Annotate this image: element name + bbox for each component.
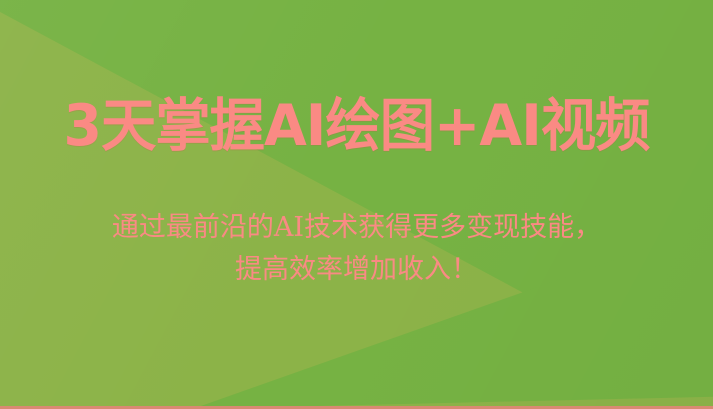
subtitle-line-1: 通过最前沿的AI技术获得更多变现技能， (0, 207, 713, 249)
page-title: 3天掌握AI绘图+AI视频 (11, 98, 703, 155)
poster-content: 3天掌握AI绘图+AI视频 通过最前沿的AI技术获得更多变现技能， 提高效率增加… (0, 0, 713, 409)
subtitle-line-2: 提高效率增加收入！ (0, 249, 713, 291)
promo-poster: 3天掌握AI绘图+AI视频 通过最前沿的AI技术获得更多变现技能， 提高效率增加… (0, 0, 713, 409)
poster-subtitle: 通过最前沿的AI技术获得更多变现技能， 提高效率增加收入！ (0, 207, 713, 291)
